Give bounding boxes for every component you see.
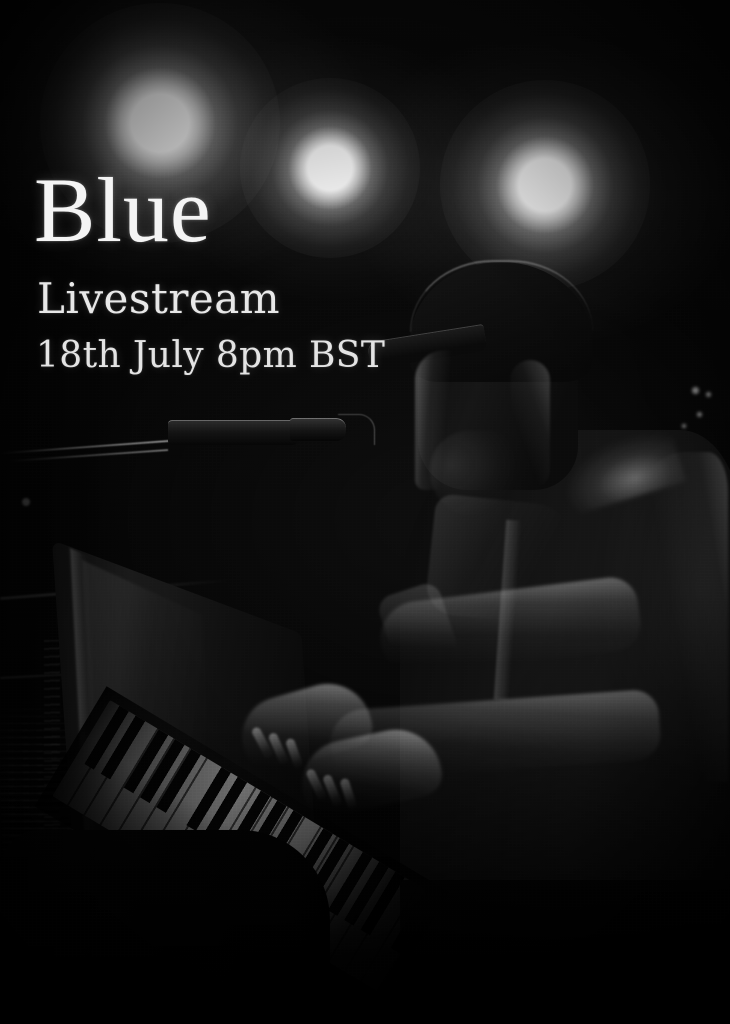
microphone-clamp [22,498,30,506]
microphone-cable [338,414,375,445]
poster-text-block: Blue Livestream 18th July 8pm BST [34,168,385,375]
poster-subtitle: Livestream [37,277,385,321]
poster-title: Blue [34,168,385,253]
microphone-body [168,420,298,445]
poster-datetime: 18th July 8pm BST [36,337,385,375]
microphone [0,0,730,1024]
poster-canvas: Blue Livestream 18th July 8pm BST [0,0,730,1024]
